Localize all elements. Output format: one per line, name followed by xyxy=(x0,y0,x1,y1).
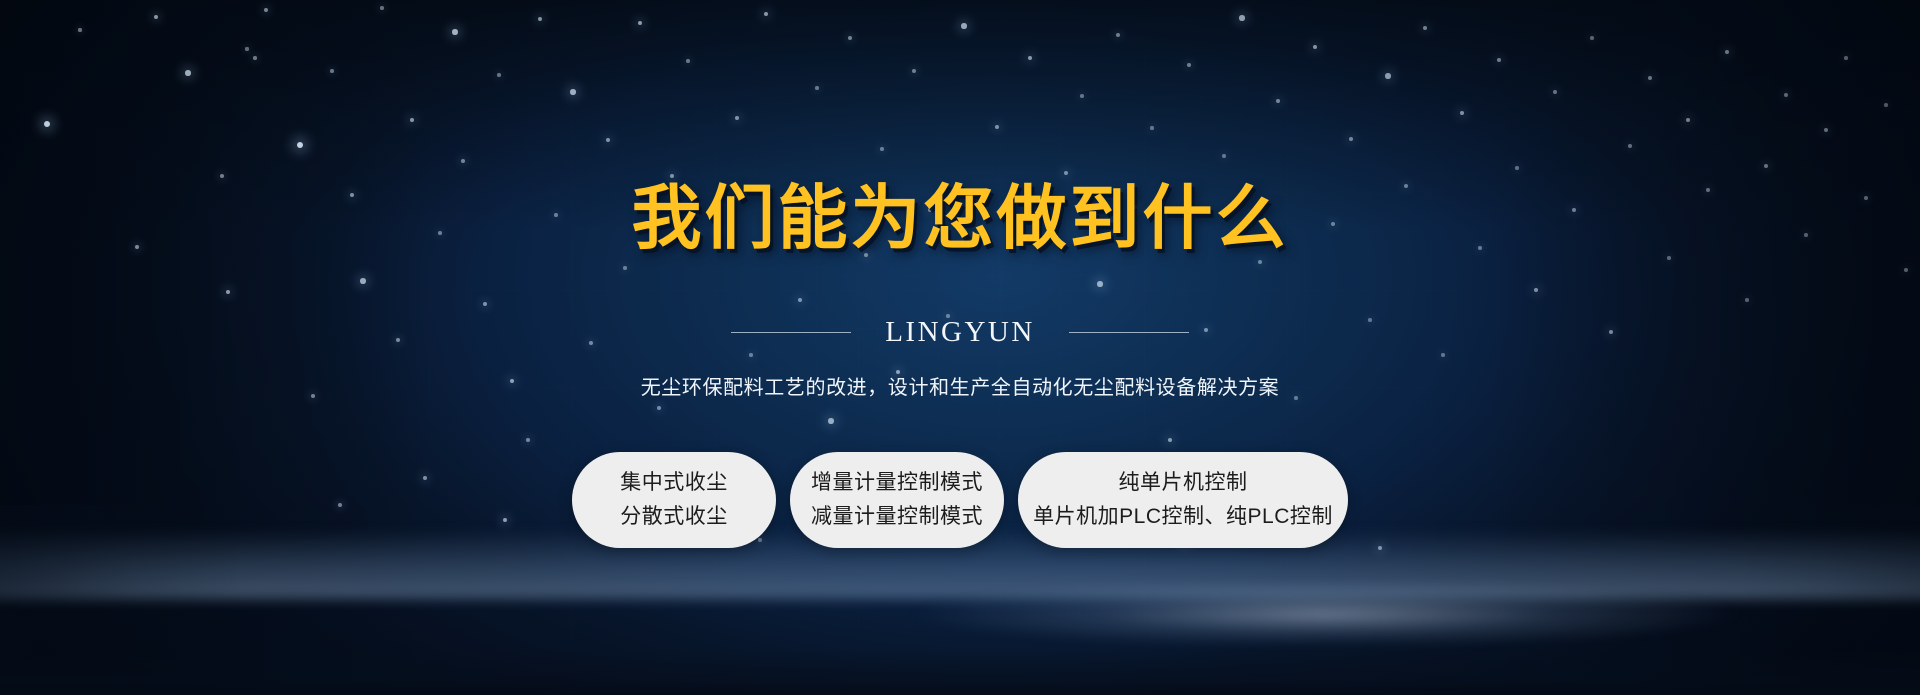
feature-card-control-system[interactable]: 纯单片机控制 单片机加PLC控制、纯PLC控制 xyxy=(1018,452,1348,548)
feature-card-dust-collection[interactable]: 集中式收尘 分散式收尘 xyxy=(572,452,776,548)
feature-card-line-1: 纯单片机控制 xyxy=(1119,472,1248,493)
feature-card-list: 集中式收尘 分散式收尘 增量计量控制模式 减量计量控制模式 纯单片机控制 单片机… xyxy=(572,452,1348,548)
banner-content: 我们能为您做到什么 LINGYUN 无尘环保配料工艺的改进，设计和生产全自动化无… xyxy=(0,0,1920,695)
brand-latin-name: LINGYUN xyxy=(885,316,1035,349)
feature-card-line-1: 集中式收尘 xyxy=(620,472,728,493)
feature-card-line-2: 分散式收尘 xyxy=(620,506,728,527)
divider-line-left xyxy=(731,332,851,333)
hero-banner: 我们能为您做到什么 LINGYUN 无尘环保配料工艺的改进，设计和生产全自动化无… xyxy=(0,0,1920,695)
subtitle-row: LINGYUN xyxy=(731,316,1189,349)
feature-card-weighing-mode[interactable]: 增量计量控制模式 减量计量控制模式 xyxy=(790,452,1004,548)
page-title: 我们能为您做到什么 xyxy=(632,182,1289,255)
feature-card-line-2: 减量计量控制模式 xyxy=(811,506,983,527)
divider-line-right xyxy=(1069,332,1189,333)
feature-card-line-1: 增量计量控制模式 xyxy=(811,472,983,493)
banner-description: 无尘环保配料工艺的改进，设计和生产全自动化无尘配料设备解决方案 xyxy=(641,371,1280,400)
feature-card-line-2: 单片机加PLC控制、纯PLC控制 xyxy=(1033,506,1333,527)
